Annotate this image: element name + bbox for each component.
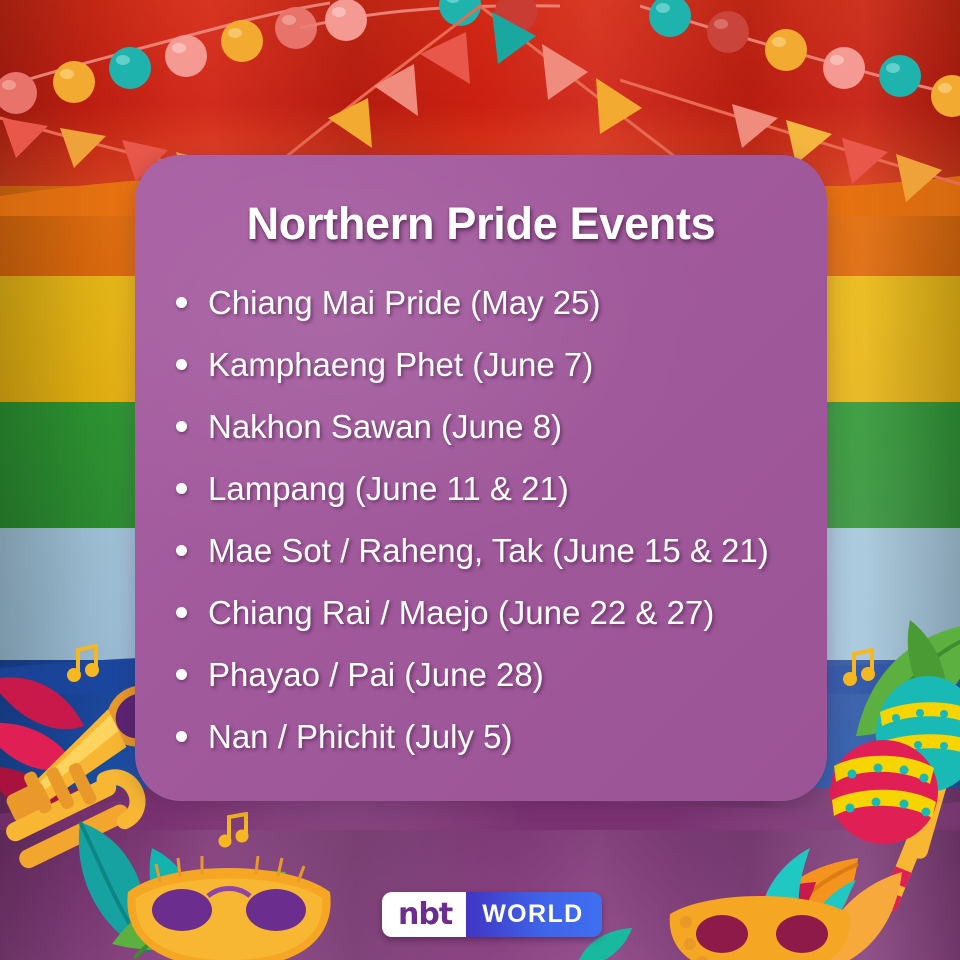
bullet-icon [176,731,187,742]
nbt-world-logo: nbt WORLD [382,892,602,937]
bullet-icon [176,359,187,370]
event-label: Chiang Rai / Maejo (June 22 & 27) [208,594,714,631]
list-item: Mae Sot / Raheng, Tak (June 15 & 21) [176,534,827,567]
logo-brand-text: nbt [382,892,466,937]
logo-suffix-text: WORLD [466,892,601,937]
poster-canvas: Northern Pride Events Chiang Mai Pride (… [0,0,960,960]
list-item: Kamphaeng Phet (June 7) [176,348,827,381]
list-item: Nan / Phichit (July 5) [176,720,827,753]
event-label: Nan / Phichit (July 5) [208,718,512,755]
event-list: Chiang Mai Pride (May 25) Kamphaeng Phet… [176,286,827,753]
event-label: Chiang Mai Pride (May 25) [208,284,601,321]
bullet-icon [176,297,187,308]
event-label: Mae Sot / Raheng, Tak (June 15 & 21) [208,532,769,569]
event-label: Lampang (June 11 & 21) [208,470,569,507]
event-label: Kamphaeng Phet (June 7) [208,346,593,383]
bullet-icon [176,669,187,680]
list-item: Chiang Mai Pride (May 25) [176,286,827,319]
event-label: Phayao / Pai (June 28) [208,656,544,693]
list-item: Lampang (June 11 & 21) [176,472,827,505]
bullet-icon [176,607,187,618]
page-title: Northern Pride Events [135,155,827,246]
events-card: Northern Pride Events Chiang Mai Pride (… [135,155,827,801]
bullet-icon [176,545,187,556]
list-item: Chiang Rai / Maejo (June 22 & 27) [176,596,827,629]
list-item: Phayao / Pai (June 28) [176,658,827,691]
list-item: Nakhon Sawan (June 8) [176,410,827,443]
bullet-icon [176,421,187,432]
bullet-icon [176,483,187,494]
event-label: Nakhon Sawan (June 8) [208,408,562,445]
